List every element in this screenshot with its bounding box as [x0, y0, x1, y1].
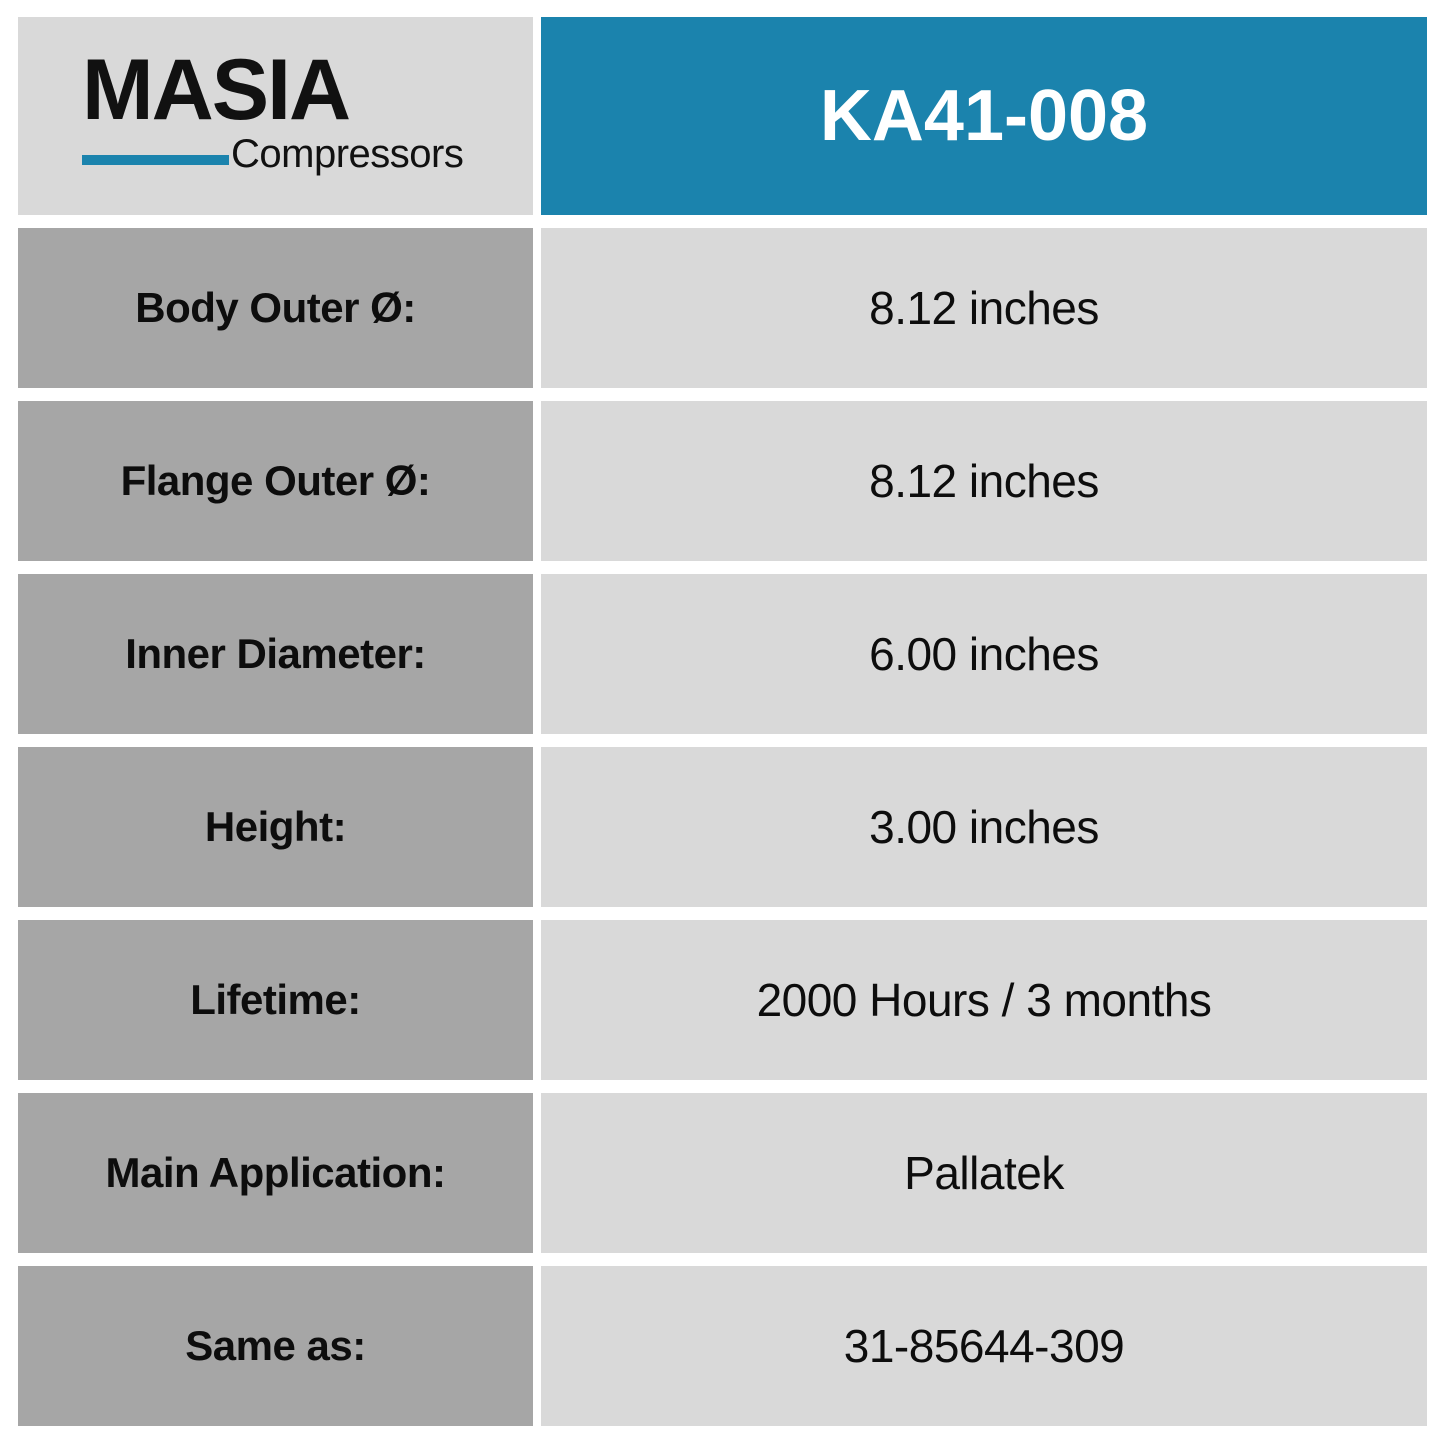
spec-value: 8.12 inches [869, 456, 1099, 507]
spec-value: 2000 Hours / 3 months [757, 975, 1212, 1026]
spec-value: 31-85644-309 [844, 1321, 1124, 1372]
spec-value-cell: 8.12 inches [541, 228, 1427, 388]
brand-tagline: Compressors [231, 134, 463, 174]
part-number-title: KA41-008 [820, 80, 1148, 152]
spec-value: Pallatek [904, 1148, 1064, 1199]
table-row: Lifetime: 2000 Hours / 3 months [18, 920, 1427, 1080]
spec-value-cell: 8.12 inches [541, 401, 1427, 561]
table-row: Same as: 31-85644-309 [18, 1266, 1427, 1426]
spec-label: Inner Diameter: [125, 631, 426, 677]
brand-logo: MASIA Compressors [82, 51, 482, 174]
sheet-header: MASIA Compressors KA41-008 [18, 17, 1427, 215]
brand-name: MASIA [82, 51, 482, 130]
spec-label-cell: Same as: [18, 1266, 533, 1426]
spec-value: 3.00 inches [869, 802, 1099, 853]
brand-tagline-row: Compressors [82, 134, 482, 174]
spec-table: Body Outer Ø: 8.12 inches Flange Outer Ø… [18, 228, 1427, 1426]
product-spec-sheet: MASIA Compressors KA41-008 Body Outer Ø:… [0, 0, 1445, 1445]
spec-label-cell: Inner Diameter: [18, 574, 533, 734]
table-row: Flange Outer Ø: 8.12 inches [18, 401, 1427, 561]
spec-label: Same as: [185, 1323, 365, 1369]
spec-label: Main Application: [106, 1150, 446, 1196]
table-row: Main Application: Pallatek [18, 1093, 1427, 1253]
spec-label: Lifetime: [190, 977, 361, 1023]
spec-label-cell: Main Application: [18, 1093, 533, 1253]
spec-label: Body Outer Ø: [135, 285, 416, 331]
table-row: Height: 3.00 inches [18, 747, 1427, 907]
brand-logo-cell: MASIA Compressors [18, 17, 533, 215]
spec-label-cell: Body Outer Ø: [18, 228, 533, 388]
spec-value-cell: Pallatek [541, 1093, 1427, 1253]
spec-label-cell: Flange Outer Ø: [18, 401, 533, 561]
spec-value-cell: 31-85644-309 [541, 1266, 1427, 1426]
brand-accent-bar [82, 155, 229, 165]
spec-value-cell: 6.00 inches [541, 574, 1427, 734]
spec-label-cell: Height: [18, 747, 533, 907]
table-row: Body Outer Ø: 8.12 inches [18, 228, 1427, 388]
spec-label: Height: [205, 804, 346, 850]
spec-value: 6.00 inches [869, 629, 1099, 680]
spec-value: 8.12 inches [869, 283, 1099, 334]
table-row: Inner Diameter: 6.00 inches [18, 574, 1427, 734]
spec-label: Flange Outer Ø: [121, 458, 431, 504]
part-number-cell: KA41-008 [541, 17, 1427, 215]
spec-label-cell: Lifetime: [18, 920, 533, 1080]
spec-value-cell: 3.00 inches [541, 747, 1427, 907]
spec-value-cell: 2000 Hours / 3 months [541, 920, 1427, 1080]
